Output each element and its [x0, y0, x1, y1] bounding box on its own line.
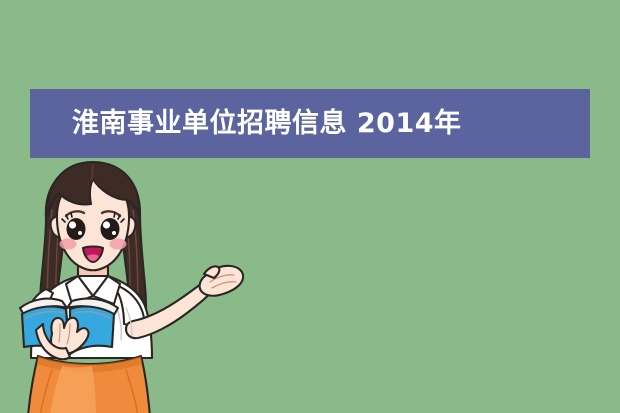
blush-left — [60, 239, 77, 250]
blush-right — [110, 239, 127, 250]
eye-right — [101, 218, 120, 240]
eye-left — [67, 218, 86, 240]
poster-canvas: 淮南事业单位招聘信息 2014年 — [0, 0, 620, 413]
cartoon-woman-illustration — [0, 158, 265, 413]
title-banner: 淮南事业单位招聘信息 2014年 — [30, 89, 590, 158]
eye-left-highlight-big — [69, 221, 76, 228]
eye-right-highlight-big — [103, 221, 110, 228]
page-title: 淮南事业单位招聘信息 2014年 — [72, 110, 462, 137]
eye-right-highlight-small — [112, 231, 116, 235]
eye-left-highlight-small — [78, 231, 82, 235]
